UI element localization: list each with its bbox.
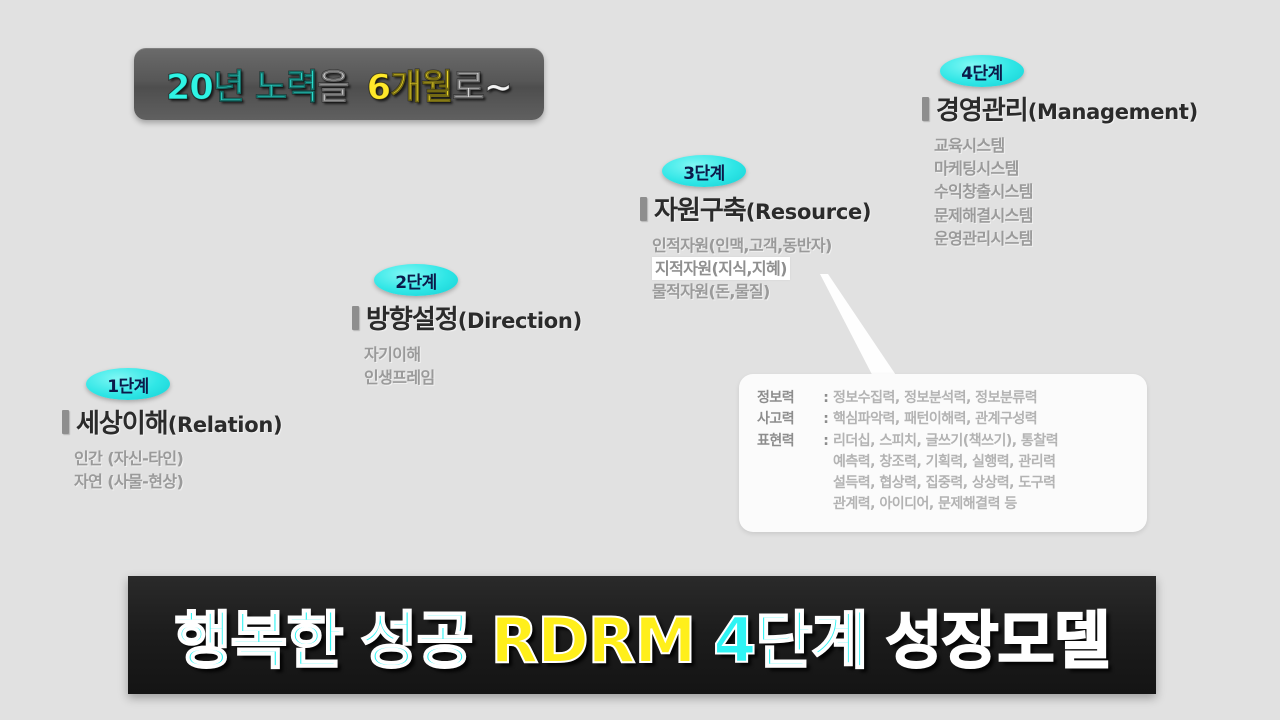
detail-row: 표현력 : 리더십, 스피치, 글쓰기(책쓰기), 통찰력 (757, 431, 1147, 452)
detail-row: 정보력 : 정보수집력, 정보분석력, 정보분류력 (757, 388, 1147, 409)
capability-detail-panel: 정보력 : 정보수집력, 정보분석력, 정보분류력 사고력 : 핵심파악력, 패… (739, 374, 1147, 532)
tagline-banner: 20년 노력을6개월로~ (134, 48, 544, 120)
bottom-segment-1: 행복한 (174, 604, 342, 677)
bottom-segment-2: 성공 (360, 604, 472, 677)
stage-item-list-3: 인적자원(인맥,고객,동반자) 지적자원(지식,지혜) 물적자원(돈,물질) (652, 234, 871, 304)
stage-item-text: 마케팅시스템 (934, 159, 1019, 178)
stage-item-text: 자연 (사물-현상) (74, 472, 183, 491)
tagline-segment-2: 을 (318, 68, 349, 108)
list-item-highlighted[interactable]: 지적자원(지식,지혜) (652, 257, 871, 280)
stage-title-ko-4: 경영관리 (936, 90, 1028, 127)
detail-colon: : (819, 409, 833, 430)
detail-label: 표현력 (757, 431, 819, 452)
detail-row: 표현력 : 설득력, 협상력, 집중력, 상상력, 도구력 (757, 473, 1147, 494)
list-item: 수익창출시스템 (934, 180, 1198, 203)
stage-group-1: 1단계 세상이해 (Relation) 인간 (자신-타인) 자연 (사물-현상… (62, 368, 282, 493)
stage-item-list-4: 교육시스템 마케팅시스템 수익창출시스템 문제해결시스템 운영관리시스템 (934, 134, 1198, 250)
list-item: 자기이해 (364, 343, 582, 366)
detail-colon: : (819, 388, 833, 409)
detail-value: 설득력, 협상력, 집중력, 상상력, 도구력 (833, 473, 1055, 494)
stage-title-row-1: 세상이해 (Relation) (62, 403, 282, 440)
stage-item-text: 인적자원(인맥,고객,동반자) (652, 236, 832, 255)
list-item: 마케팅시스템 (934, 157, 1198, 180)
stage-title-ko-3: 자원구축 (654, 190, 746, 227)
stage-group-4: 4단계 경영관리 (Management) 교육시스템 마케팅시스템 수익창출시… (922, 55, 1198, 250)
tagline-segment-3: 6개월 (367, 68, 453, 108)
detail-value: 예측력, 창조력, 기획력, 실행력, 관리력 (833, 452, 1055, 473)
stage-title-ko-1: 세상이해 (76, 403, 168, 440)
stage-item-list-1: 인간 (자신-타인) 자연 (사물-현상) (74, 447, 282, 493)
bottom-segment-3: RDRM (491, 604, 696, 677)
list-item: 운영관리시스템 (934, 227, 1198, 250)
stage-item-text: 교육시스템 (934, 136, 1005, 155)
detail-value: 리더십, 스피치, 글쓰기(책쓰기), 통찰력 (833, 431, 1058, 452)
title-accent-bar-icon (352, 306, 359, 330)
stage-item-text: 물적자원(돈,물질) (652, 282, 770, 301)
tagline-segment-1: 20년 노력 (166, 68, 318, 108)
stage-title-row-2: 방향설정 (Direction) (352, 299, 582, 336)
title-accent-bar-icon (640, 197, 647, 221)
detail-rows: 정보력 : 정보수집력, 정보분석력, 정보분류력 사고력 : 핵심파악력, 패… (739, 374, 1147, 516)
title-accent-bar-icon (62, 410, 69, 434)
stage-item-text: 자기이해 (364, 345, 420, 364)
detail-value: 정보수집력, 정보분석력, 정보분류력 (833, 388, 1037, 409)
stage-group-2: 2단계 방향설정 (Direction) 자기이해 인생프레임 (352, 264, 582, 389)
detail-row: 표현력 : 관계력, 아이디어, 문제해결력 등 (757, 494, 1147, 515)
detail-value: 핵심파악력, 패턴이해력, 관계구성력 (833, 409, 1037, 430)
stage-item-text: 문제해결시스템 (934, 206, 1033, 225)
title-accent-bar-icon (922, 97, 929, 121)
stage-badge-4: 4단계 (940, 55, 1024, 87)
stage-title-row-3: 자원구축 (Resource) (640, 190, 871, 227)
stage-title-en-2: (Direction) (458, 309, 582, 333)
stage-item-text: 인간 (자신-타인) (74, 449, 183, 468)
stage-badge-1: 1단계 (86, 368, 170, 400)
list-item: 자연 (사물-현상) (74, 470, 282, 493)
detail-label: 정보력 (757, 388, 819, 409)
stage-badge-2: 2단계 (374, 264, 458, 296)
stage-title-en-3: (Resource) (746, 200, 872, 224)
detail-row: 표현력 : 예측력, 창조력, 기획력, 실행력, 관리력 (757, 452, 1147, 473)
list-item: 인간 (자신-타인) (74, 447, 282, 470)
slide-canvas: 20년 노력을6개월로~ 1단계 세상이해 (Relation) 인간 (자신-… (0, 0, 1280, 720)
list-item: 물적자원(돈,물질) (652, 280, 871, 303)
bottom-title-banner: 행복한성공RDRM4단계성장모델 (128, 576, 1156, 694)
stage-item-text: 인생프레임 (364, 368, 435, 387)
tagline-text: 20년 노력을6개월로~ (166, 59, 512, 110)
stage-title-en-1: (Relation) (168, 413, 283, 437)
detail-colon: : (819, 431, 833, 452)
stage-item-text: 수익창출시스템 (934, 182, 1033, 201)
stage-title-row-4: 경영관리 (Management) (922, 90, 1198, 127)
bottom-segment-5: 성장모델 (885, 604, 1109, 677)
bottom-segment-4: 4단계 (713, 604, 867, 677)
detail-label: 사고력 (757, 409, 819, 430)
bottom-title-text: 행복한성공RDRM4단계성장모델 (174, 590, 1109, 680)
detail-value: 관계력, 아이디어, 문제해결력 등 (833, 494, 1017, 515)
stage-title-ko-2: 방향설정 (366, 299, 458, 336)
stage-title-en-4: (Management) (1028, 100, 1198, 124)
stage-item-list-2: 자기이해 인생프레임 (364, 343, 582, 389)
tagline-segment-4: 로~ (452, 68, 512, 108)
list-item: 인생프레임 (364, 366, 582, 389)
list-item: 문제해결시스템 (934, 204, 1198, 227)
detail-row: 사고력 : 핵심파악력, 패턴이해력, 관계구성력 (757, 409, 1147, 430)
stage-group-3: 3단계 자원구축 (Resource) 인적자원(인맥,고객,동반자) 지적자원… (640, 155, 871, 304)
list-item: 교육시스템 (934, 134, 1198, 157)
stage-item-text: 운영관리시스템 (934, 229, 1033, 248)
stage-badge-3: 3단계 (662, 155, 746, 187)
stage-item-text-highlighted: 지적자원(지식,지혜) (652, 257, 790, 280)
list-item: 인적자원(인맥,고객,동반자) (652, 234, 871, 257)
